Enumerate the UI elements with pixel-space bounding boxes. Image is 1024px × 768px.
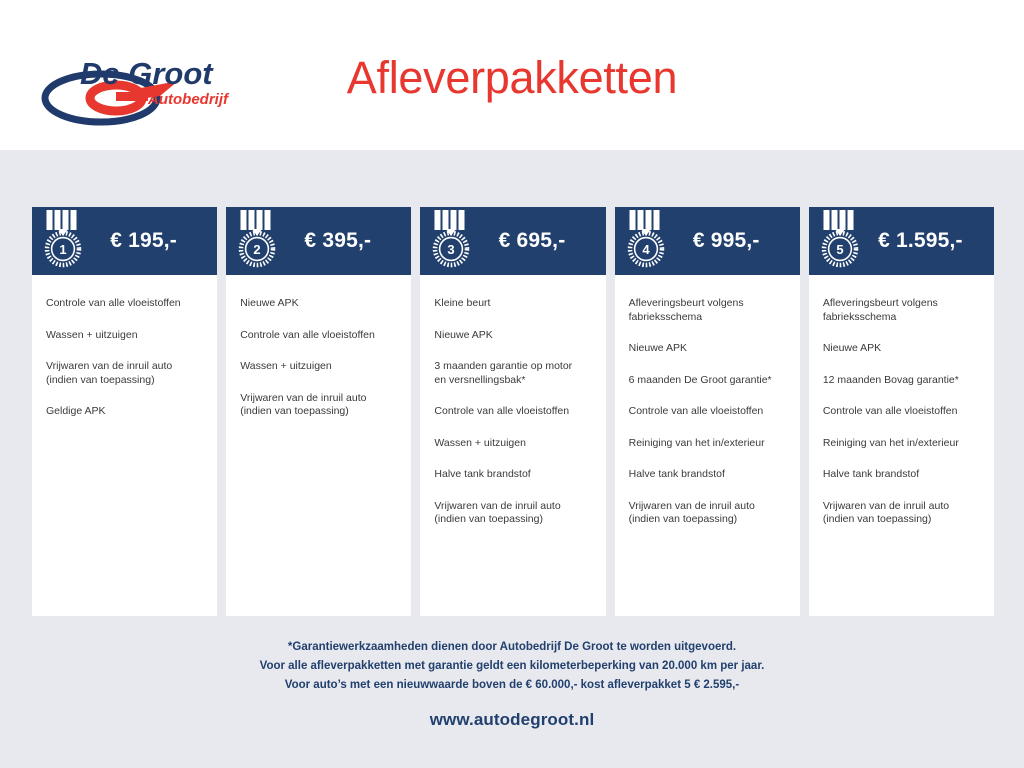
medal-icon: 2 [238, 210, 276, 268]
package-feature: Nieuwe APK [823, 342, 980, 356]
slide-root: De Groot Autobedrijf Afleverpakketten 1 … [0, 0, 1024, 768]
package-feature: Controle van alle vloeistoffen [46, 297, 203, 311]
medal-ribbon [823, 210, 853, 230]
disclaimer-line: Voor alle afleverpakketten met garantie … [0, 657, 1024, 676]
package-feature: Halve tank brandstof [434, 468, 591, 482]
package-feature: Afleveringsbeurt volgens fabrieksschema [823, 297, 980, 324]
package-feature: Halve tank brandstof [823, 468, 980, 482]
disclaimer-line: *Garantiewerkzaamheden dienen door Autob… [0, 638, 1024, 657]
package-feature: Afleveringsbeurt volgens fabrieksschema [629, 297, 786, 324]
medal-icon: 5 [821, 210, 859, 268]
package-feature-list: Afleveringsbeurt volgens fabrieksschemaN… [615, 275, 800, 616]
medal-ribbon [47, 210, 77, 230]
package-feature: 3 maanden garantie op motor en versnelli… [434, 360, 591, 387]
package-cards: 1 € 195,-Controle van alle vloeistoffenW… [32, 207, 994, 616]
medal-disc: 4 [630, 233, 662, 265]
package-card-5[interactable]: 5 € 1.595,-Afleveringsbeurt volgens fabr… [809, 207, 994, 616]
svg-text:5: 5 [836, 242, 843, 257]
package-card-header: 1 € 195,- [32, 207, 217, 275]
medal-icon: 1 [44, 210, 82, 268]
medal-disc: 2 [241, 233, 273, 265]
package-feature: Controle van alle vloeistoffen [823, 405, 980, 419]
package-feature: Wassen + uitzuigen [46, 329, 203, 343]
package-card-header: 5 € 1.595,- [809, 207, 994, 275]
package-feature-list: Controle van alle vloeistoffenWassen + u… [32, 275, 217, 616]
package-price: € 195,- [82, 229, 209, 253]
package-feature: Nieuwe APK [434, 329, 591, 343]
disclaimer-line: Voor auto’s met een nieuwwaarde boven de… [0, 676, 1024, 695]
medal-icon: 3 [432, 210, 470, 268]
package-price: € 395,- [276, 229, 403, 253]
package-feature-list: Kleine beurtNieuwe APK3 maanden garantie… [420, 275, 605, 616]
package-feature: Vrijwaren van de inruil auto (indien van… [823, 500, 980, 527]
svg-text:1: 1 [59, 242, 66, 257]
package-feature: Controle van alle vloeistoffen [434, 405, 591, 419]
package-feature: 6 maanden De Groot garantie* [629, 374, 786, 388]
svg-text:4: 4 [642, 242, 650, 257]
package-feature: Halve tank brandstof [629, 468, 786, 482]
disclaimer-text: *Garantiewerkzaamheden dienen door Autob… [0, 638, 1024, 695]
medal-ribbon [241, 210, 271, 230]
package-card-3[interactable]: 3 € 695,-Kleine beurtNieuwe APK3 maanden… [420, 207, 605, 616]
medal-disc: 5 [824, 233, 856, 265]
website-link[interactable]: www.autodegroot.nl [0, 710, 1024, 730]
medal-icon: 4 [627, 210, 665, 268]
package-feature: Vrijwaren van de inruil auto (indien van… [629, 500, 786, 527]
package-price: € 995,- [665, 229, 792, 253]
package-card-header: 4 € 995,- [615, 207, 800, 275]
package-feature: Nieuwe APK [629, 342, 786, 356]
package-feature: Nieuwe APK [240, 297, 397, 311]
header-bar: De Groot Autobedrijf Afleverpakketten [0, 0, 1024, 150]
package-feature: Vrijwaren van de inruil auto (indien van… [46, 360, 203, 387]
package-feature: Reiniging van het in/exterieur [823, 437, 980, 451]
package-feature: Wassen + uitzuigen [240, 360, 397, 374]
package-card-header: 3 € 695,- [420, 207, 605, 275]
package-feature: Wassen + uitzuigen [434, 437, 591, 451]
svg-text:3: 3 [448, 242, 455, 257]
package-feature-list: Nieuwe APKControle van alle vloeistoffen… [226, 275, 411, 616]
package-feature: Vrijwaren van de inruil auto (indien van… [434, 500, 591, 527]
package-feature: Controle van alle vloeistoffen [629, 405, 786, 419]
package-feature: Vrijwaren van de inruil auto (indien van… [240, 392, 397, 419]
package-price: € 695,- [470, 229, 597, 253]
package-feature: 12 maanden Bovag garantie* [823, 374, 980, 388]
medal-ribbon [629, 210, 659, 230]
package-card-1[interactable]: 1 € 195,-Controle van alle vloeistoffenW… [32, 207, 217, 616]
package-card-2[interactable]: 2 € 395,-Nieuwe APKControle van alle vlo… [226, 207, 411, 616]
package-feature: Geldige APK [46, 405, 203, 419]
package-feature-list: Afleveringsbeurt volgens fabrieksschemaN… [809, 275, 994, 616]
package-card-header: 2 € 395,- [226, 207, 411, 275]
package-card-4[interactable]: 4 € 995,-Afleveringsbeurt volgens fabrie… [615, 207, 800, 616]
package-price: € 1.595,- [859, 229, 986, 253]
package-feature: Reiniging van het in/exterieur [629, 437, 786, 451]
medal-disc: 3 [435, 233, 467, 265]
package-feature: Kleine beurt [434, 297, 591, 311]
svg-text:2: 2 [254, 242, 261, 257]
page-title: Afleverpakketten [0, 52, 1024, 104]
medal-ribbon [435, 210, 465, 230]
medal-disc: 1 [47, 233, 79, 265]
package-feature: Controle van alle vloeistoffen [240, 329, 397, 343]
